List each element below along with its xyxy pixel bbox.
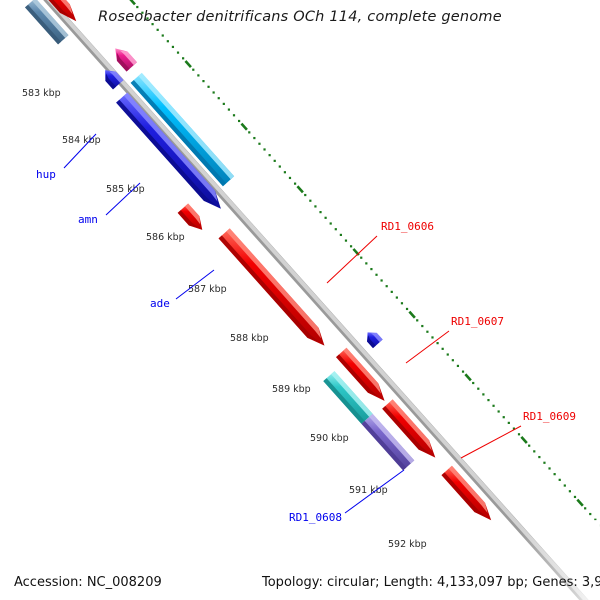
ruler-tick-label: 588 kbp bbox=[230, 333, 269, 344]
backbone-inner-line bbox=[31, 0, 600, 600]
ruler-dot bbox=[391, 291, 393, 293]
ruler-dot bbox=[233, 114, 235, 116]
gene-label-ade[interactable]: ade bbox=[150, 297, 170, 310]
gene-label-amn[interactable]: amn bbox=[78, 213, 98, 226]
status-summary: Topology: circular; Length: 4,133,097 bp… bbox=[261, 575, 600, 590]
ruler-dot bbox=[157, 29, 159, 31]
ruler-dot bbox=[492, 405, 494, 407]
ruler-dot bbox=[436, 342, 438, 344]
ruler-dot bbox=[472, 382, 474, 384]
ruler-dot bbox=[350, 245, 352, 247]
ruler-dot bbox=[223, 103, 225, 105]
ruler-major-tick bbox=[129, 0, 134, 4]
ruler-dot bbox=[314, 205, 316, 207]
ruler-major-tick bbox=[241, 124, 246, 130]
ruler-dot bbox=[447, 353, 449, 355]
ruler-major-tick bbox=[465, 374, 470, 380]
gene-label-hup[interactable]: hup bbox=[36, 168, 56, 181]
gene-feature[interactable] bbox=[115, 48, 137, 71]
ruler-dot bbox=[319, 211, 321, 213]
ruler-dot bbox=[487, 399, 489, 401]
ruler-tick-label: 589 kbp bbox=[272, 384, 311, 395]
ruler-dot bbox=[538, 456, 540, 458]
ruler-dot bbox=[543, 462, 545, 464]
ruler-dot bbox=[533, 450, 535, 452]
ruler-dot bbox=[452, 359, 454, 361]
ruler-dot bbox=[177, 52, 179, 54]
ruler-dot bbox=[559, 479, 561, 481]
ruler-tick-label: 586 kbp bbox=[146, 232, 185, 243]
ruler-dot bbox=[345, 240, 347, 242]
ruler-dot bbox=[365, 262, 367, 264]
ruler-dot bbox=[263, 148, 265, 150]
ruler-dot bbox=[589, 513, 591, 515]
ruler-dot bbox=[279, 165, 281, 167]
ruler-dot bbox=[569, 490, 571, 492]
status-accession: Accession: NC_008209 bbox=[14, 575, 162, 590]
ruler-major-tick bbox=[185, 61, 190, 67]
ruler-dot bbox=[274, 160, 276, 162]
ruler-dot bbox=[207, 86, 209, 88]
ruler-tick-labels: 583 kbp584 kbp585 kbp586 kbp587 kbp588 k… bbox=[22, 88, 427, 550]
ruler-dot bbox=[396, 296, 398, 298]
genome-viewer[interactable]: 583 kbp584 kbp585 kbp586 kbp587 kbp588 k… bbox=[0, 0, 600, 600]
ruler-major-tick bbox=[577, 500, 582, 506]
ruler-dot bbox=[584, 507, 586, 509]
ruler-dot bbox=[335, 228, 337, 230]
ruler-dot bbox=[289, 177, 291, 179]
ruler-dot bbox=[574, 496, 576, 498]
gene-label-rd1_0609[interactable]: RD1_0609 bbox=[523, 410, 576, 423]
ruler-dot bbox=[416, 319, 418, 321]
ruler-dot bbox=[309, 200, 311, 202]
ruler-dot bbox=[508, 422, 510, 424]
page-title: Roseobacter denitrificans OCh 114, compl… bbox=[98, 9, 502, 25]
ruler-dot bbox=[426, 331, 428, 333]
ruler-dot bbox=[162, 34, 164, 36]
ruler-dot bbox=[406, 308, 408, 310]
gene-features-layer[interactable] bbox=[18, 0, 492, 520]
gene-label-rd1_0608[interactable]: RD1_0608 bbox=[289, 511, 342, 524]
ruler-dot bbox=[167, 40, 169, 42]
ruler-dot bbox=[258, 143, 260, 145]
ruler-dot bbox=[375, 274, 377, 276]
ruler-dot bbox=[248, 131, 250, 133]
ruler-dot bbox=[528, 445, 530, 447]
ruler-tick-label: 592 kbp bbox=[388, 539, 427, 550]
ruler-dot bbox=[325, 217, 327, 219]
ruler-dot bbox=[253, 137, 255, 139]
ruler-dot bbox=[228, 108, 230, 110]
ruler-dot bbox=[304, 194, 306, 196]
ruler-dot bbox=[182, 57, 184, 59]
ruler-dot bbox=[442, 348, 444, 350]
ruler-dot bbox=[421, 325, 423, 327]
ruler-dot bbox=[498, 410, 500, 412]
gene-label-leader-line bbox=[406, 331, 449, 363]
ruler-dot bbox=[477, 388, 479, 390]
ruler-dot bbox=[136, 6, 138, 8]
gene-label-leader-line bbox=[327, 236, 377, 283]
ruler-dot bbox=[340, 234, 342, 236]
ruler-dot bbox=[218, 97, 220, 99]
ruler-dot bbox=[482, 393, 484, 395]
ruler-dot bbox=[370, 268, 372, 270]
ruler-dot bbox=[554, 473, 556, 475]
gene-label-leader-line bbox=[461, 426, 521, 458]
ruler-tick-label: 590 kbp bbox=[310, 433, 349, 444]
ruler-dot bbox=[172, 46, 174, 48]
gene-label-rd1_0607[interactable]: RD1_0607 bbox=[451, 315, 504, 328]
ruler-dot bbox=[330, 222, 332, 224]
ruler-dot bbox=[284, 171, 286, 173]
gene-feature[interactable] bbox=[178, 204, 203, 230]
ruler-dot bbox=[269, 154, 271, 156]
ruler-major-tick bbox=[521, 437, 526, 443]
ruler-dot bbox=[294, 183, 296, 185]
ruler-dot bbox=[213, 91, 215, 93]
gene-label-rd1_0606[interactable]: RD1_0606 bbox=[381, 220, 434, 233]
ruler-major-tick bbox=[409, 312, 414, 318]
gene-feature[interactable] bbox=[367, 332, 383, 348]
ruler-tick-label: 585 kbp bbox=[106, 184, 145, 195]
ruler-dot bbox=[202, 80, 204, 82]
ruler-dot bbox=[380, 279, 382, 281]
ruler-dot bbox=[401, 302, 403, 304]
ruler-major-tick bbox=[297, 186, 302, 192]
ruler-dot bbox=[238, 120, 240, 122]
genome-map-canvas[interactable]: 583 kbp584 kbp585 kbp586 kbp587 kbp588 k… bbox=[0, 0, 600, 600]
ruler-dot bbox=[564, 484, 566, 486]
ruler-dot bbox=[360, 257, 362, 259]
ruler-dot bbox=[503, 416, 505, 418]
ruler-dot bbox=[431, 336, 433, 338]
ruler-dot bbox=[192, 69, 194, 71]
genome-backbone bbox=[30, 0, 600, 600]
ruler-dot bbox=[457, 365, 459, 367]
ruler-dot bbox=[548, 467, 550, 469]
ruler-dot bbox=[518, 433, 520, 435]
ruler-tick-label: 583 kbp bbox=[22, 88, 61, 99]
ruler-dot bbox=[386, 285, 388, 287]
ruler-dot bbox=[462, 371, 464, 373]
ruler-tick-label: 584 kbp bbox=[62, 135, 101, 146]
ruler-dot bbox=[197, 74, 199, 76]
